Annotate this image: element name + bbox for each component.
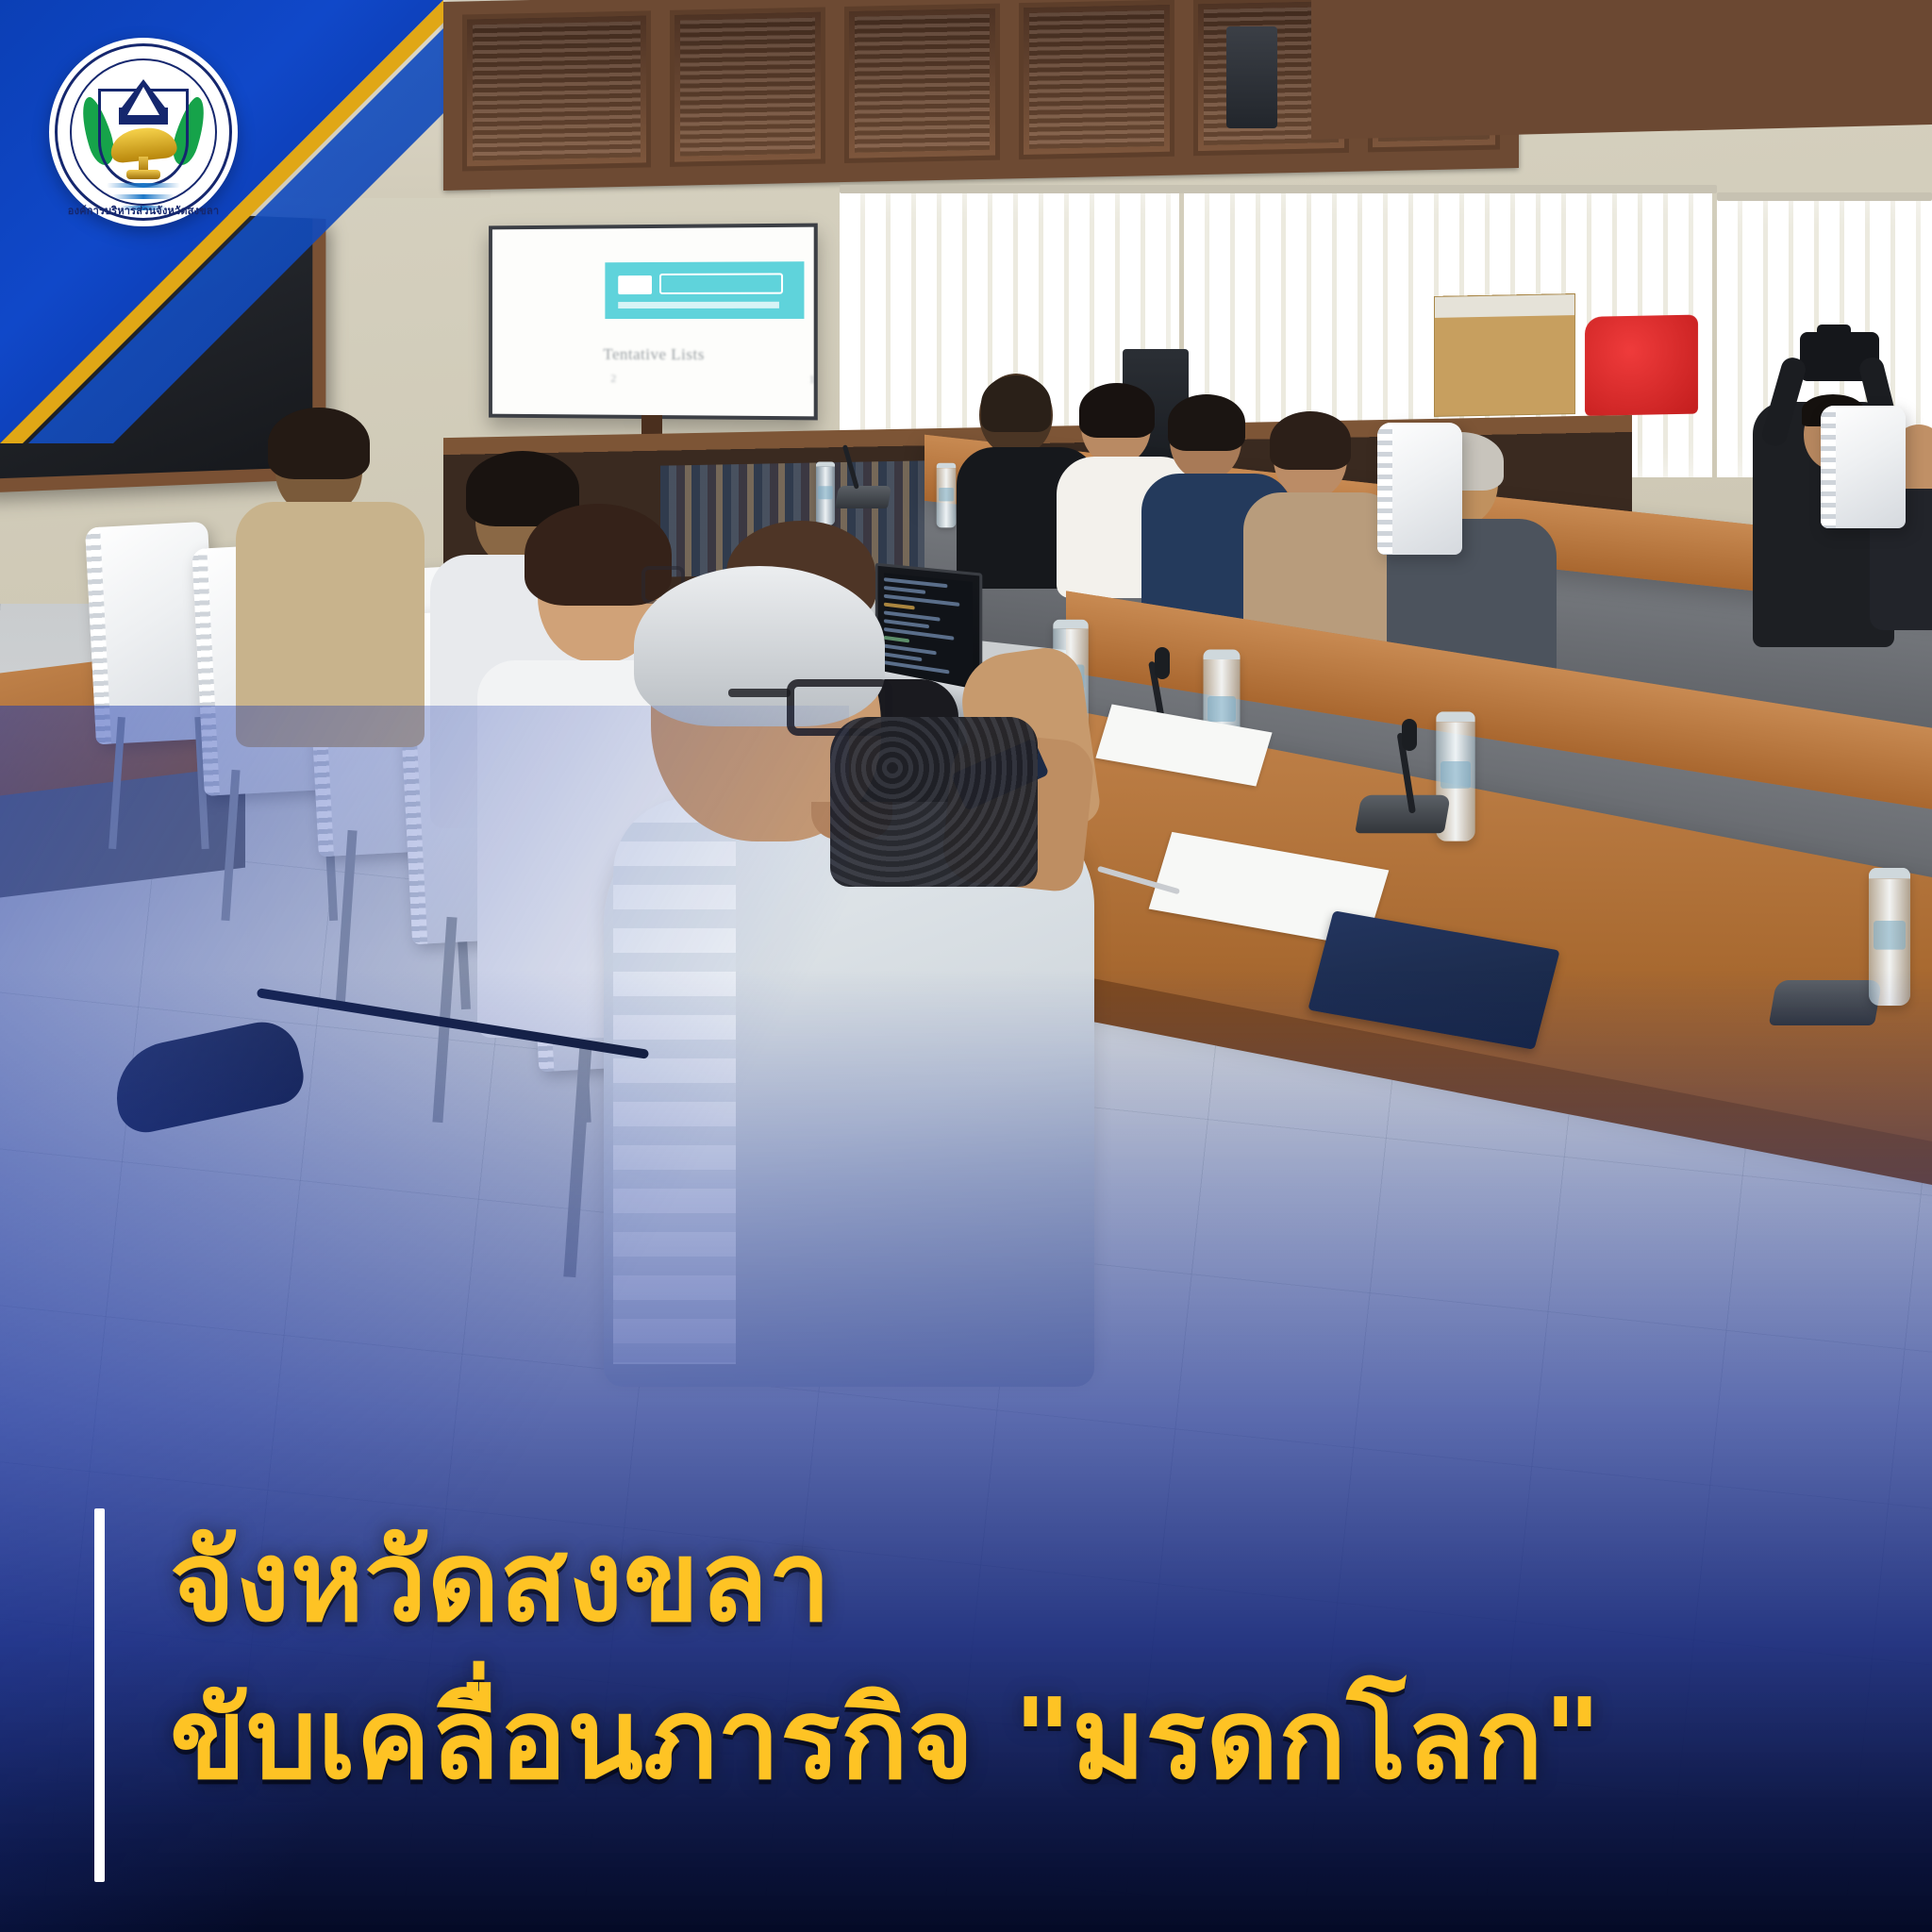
- water-bottle: [937, 463, 957, 528]
- microphone-capsule: [1155, 647, 1170, 679]
- laptop-code-lines: [884, 573, 973, 686]
- news-card: Tentative Lists 2 1: [0, 0, 1932, 1932]
- eyeglasses-temple: [728, 689, 791, 697]
- seal-lamp-foot: [126, 170, 160, 179]
- slide-sub-right: 1: [809, 373, 815, 387]
- wall-speaker-icon: [1226, 26, 1277, 128]
- headline-line-2: ขับเคลื่อนภารกิจ "มรดกโลก": [170, 1660, 1849, 1819]
- water-bottle: [1869, 868, 1910, 1006]
- microphone-capsule: [1402, 719, 1417, 751]
- seal-caption: องค์การบริหารส่วนจังหวัดสงขลา: [49, 202, 238, 219]
- headline-lines: จังหวัดสงขลา ขับเคลื่อนภารกิจ "มรดกโลก": [170, 1503, 1849, 1819]
- slide-heading: Tentative Lists: [603, 345, 817, 365]
- patterned-shawl: [830, 717, 1038, 887]
- headline-overlay: จังหวัดสงขลา ขับเคลื่อนภารกิจ "มรดกโลก": [94, 1503, 1849, 1819]
- red-bag: [1585, 315, 1698, 416]
- seal-water-wave: [112, 194, 175, 199]
- slide-subrow: 2 1: [610, 372, 814, 387]
- wall-mounted-display[interactable]: Tentative Lists 2 1: [489, 224, 818, 421]
- slide-sub-left: 2: [610, 372, 616, 386]
- cardboard-box: [1434, 293, 1575, 417]
- shirt-sleeve: [613, 798, 736, 1364]
- clerestory-right: [1311, 0, 1932, 140]
- white-chair: [1821, 406, 1906, 528]
- white-chair: [1377, 423, 1462, 555]
- water-bottle: [816, 461, 835, 525]
- slide-logo-subtitle: [618, 302, 779, 308]
- slide-logo-banner: [605, 261, 804, 319]
- headline-accent-bar: [94, 1508, 105, 1882]
- blind-rail: [840, 185, 1717, 193]
- blind-rail: [1717, 192, 1932, 201]
- conference-microphone: [1769, 980, 1882, 1025]
- headline-line-1: จังหวัดสงขลา: [170, 1503, 1849, 1661]
- organization-seal: องค์การบริหารส่วนจังหวัดสงขลา: [49, 38, 238, 226]
- conference-microphone: [1355, 795, 1451, 834]
- slide-logo-word: [659, 273, 783, 294]
- unesco-mark-icon: [618, 275, 652, 294]
- seal-water-wave: [107, 183, 180, 188]
- conference-microphone: [835, 486, 891, 508]
